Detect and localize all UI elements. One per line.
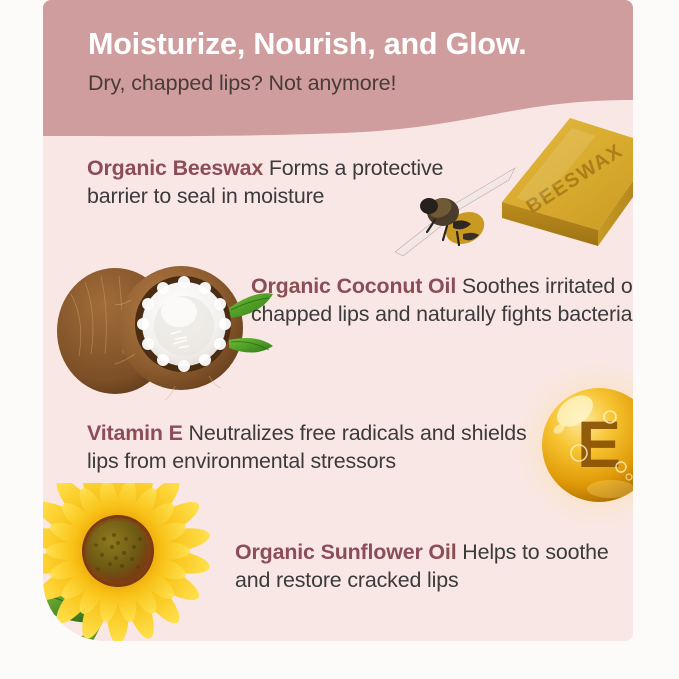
header-text-group: Moisturize, Nourish, and Glow. Dry, chap…	[43, 0, 633, 95]
benefit-coconut: Organic Coconut Oil Soothes irritated or…	[251, 272, 633, 329]
benefit-coconut-name: Organic Coconut Oil	[251, 274, 456, 298]
sunflower-icon	[43, 483, 213, 641]
benefit-beeswax: Organic Beeswax Forms a protective barri…	[87, 154, 507, 211]
benefit-vitamin-e: Vitamin E Neutralizes free radicals and …	[87, 419, 557, 476]
infographic-card: Moisturize, Nourish, and Glow. Dry, chap…	[43, 0, 633, 641]
page-title: Moisturize, Nourish, and Glow.	[43, 0, 633, 62]
benefit-beeswax-name: Organic Beeswax	[87, 156, 263, 180]
benefit-sunflower: Organic Sunflower Oil Helps to soothe an…	[235, 538, 633, 595]
coconut-icon	[43, 246, 278, 416]
page-subtitle: Dry, chapped lips? Not anymore!	[43, 62, 633, 96]
benefit-vitamin-e-name: Vitamin E	[87, 421, 183, 445]
benefit-sunflower-name: Organic Sunflower Oil	[235, 540, 456, 564]
